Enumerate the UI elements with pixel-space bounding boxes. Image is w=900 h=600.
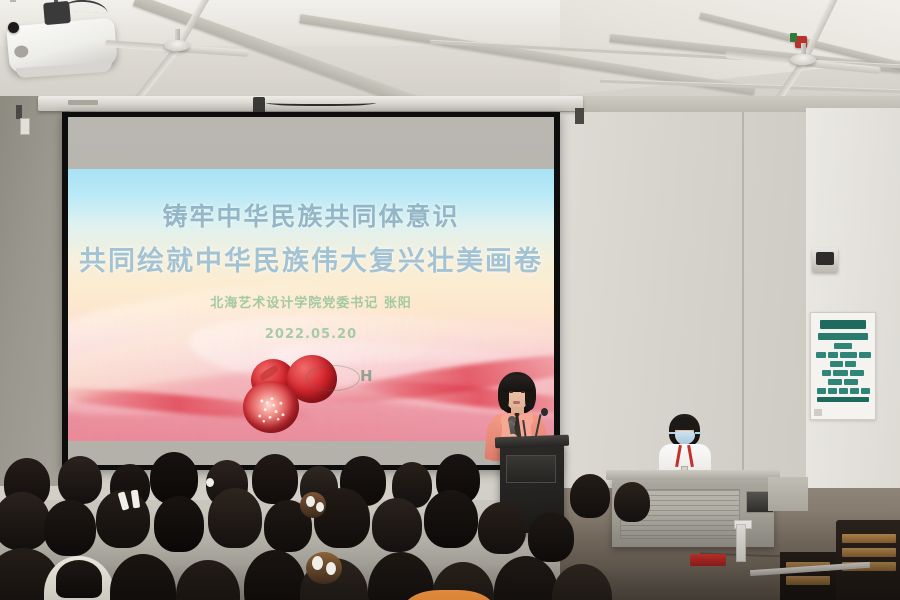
projector-icon [6, 17, 118, 74]
hair-clip [316, 502, 324, 512]
audience-head [528, 512, 574, 562]
camera-body [816, 252, 834, 265]
poster-node [850, 370, 864, 376]
poster-node [828, 379, 842, 385]
speaker-mouth [513, 401, 520, 404]
audience-section [0, 430, 900, 600]
hair-clip [306, 496, 315, 507]
wall-camera-icon [812, 248, 838, 272]
poster-title-bar [820, 320, 866, 329]
wall-bracket [575, 108, 584, 124]
poster-node [822, 370, 831, 376]
audience-head [570, 474, 610, 518]
audience-head [0, 492, 50, 550]
org-chart-poster [810, 312, 876, 420]
poster-corner-mark [814, 409, 822, 416]
audience-head [58, 456, 102, 504]
camera-lens-icon [8, 22, 19, 33]
poster-node [834, 343, 852, 349]
podium-microphone-icon [541, 408, 548, 416]
fan-hub [164, 40, 190, 51]
speaker-eye [509, 391, 513, 393]
poster-node [816, 352, 826, 358]
poster-node-row [814, 388, 872, 394]
hair-clip [312, 556, 323, 570]
poster-node [828, 388, 837, 394]
poster-node [845, 361, 856, 367]
speaker-fringe [501, 375, 533, 392]
audience-head [424, 490, 478, 548]
poster-node [861, 388, 870, 394]
slide-date: 2022.05.20 [68, 327, 554, 342]
audience-head [372, 498, 422, 552]
speaker-eye [521, 391, 525, 393]
hair-tie [206, 478, 214, 487]
audience-head [614, 482, 650, 522]
wall-junction-box [20, 118, 30, 135]
poster-node [850, 388, 859, 394]
slide-title-line-2: 共同绘就中华民族伟大复兴壮美画卷 [68, 239, 554, 278]
wall-bracket [16, 105, 22, 119]
staff-fringe [672, 417, 697, 430]
poster-node-row [814, 370, 872, 376]
poster-node-row [814, 343, 872, 349]
poster-top-node [818, 333, 868, 340]
slide-title-line-1: 铸牢中华民族共同体意识 [68, 197, 554, 233]
poster-footer-bar [817, 397, 869, 402]
roller-cable [266, 98, 376, 106]
poster-node-row [814, 352, 872, 358]
poster-node [830, 361, 843, 367]
hair-clip [326, 562, 336, 575]
audience-head [44, 500, 96, 556]
ceiling-fan-icon [802, 58, 803, 59]
audience-head [154, 496, 204, 552]
poster-node [844, 379, 858, 385]
projector-lens-icon [14, 45, 29, 58]
poster-node [859, 352, 871, 358]
poster-node [828, 352, 838, 358]
audience-head [252, 454, 298, 504]
audience-head [478, 502, 526, 554]
audience-hair-cap [56, 560, 102, 598]
roller-label [68, 100, 98, 105]
screen-roller-housing [38, 96, 583, 111]
left-wall [0, 96, 70, 486]
audience-head [208, 488, 262, 548]
fan-hub [790, 54, 816, 65]
poster-node-row [814, 361, 872, 367]
poster-node [817, 388, 826, 394]
poster-node [840, 352, 857, 358]
lecture-hall-photo: H 铸牢中华民族共同体意识 共同绘就中华民族伟大复兴壮美画卷 北海艺术设计学院党… [0, 0, 900, 600]
poster-node [833, 370, 848, 376]
slide-subtitle: 北海艺术设计学院党委书记 张阳 [68, 292, 554, 311]
hair-bun [306, 552, 342, 584]
camera-mount-arm [10, 0, 16, 2]
poster-node [839, 388, 848, 394]
poster-node-row [814, 379, 872, 385]
ceiling-fan-icon [176, 44, 177, 45]
